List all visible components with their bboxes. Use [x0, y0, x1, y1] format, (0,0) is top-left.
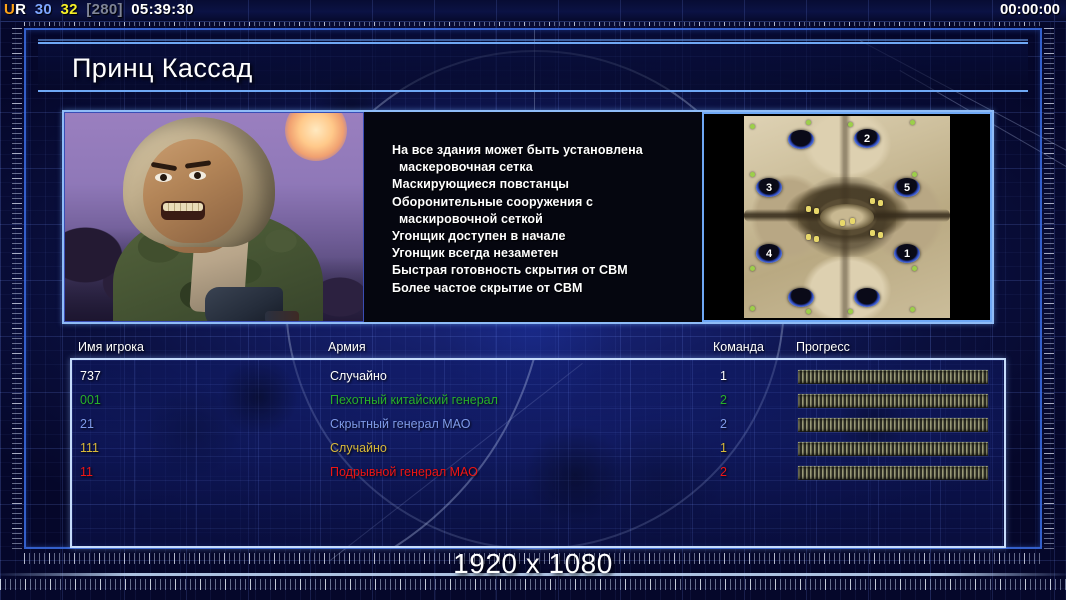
- minimap-oil-marker: [878, 200, 883, 206]
- table-row[interactable]: 11Подрывной генерал МАО2: [80, 462, 1000, 486]
- score-bracket-value: [280]: [86, 1, 123, 18]
- player-list: 737Случайно1001Пехотный китайский генера…: [70, 358, 1006, 548]
- description-line: Маскирующиеся повстанцы: [392, 176, 694, 193]
- faction-description: На все здания может быть установленамаск…: [364, 112, 702, 322]
- ruler-left: [12, 28, 22, 549]
- portrait-weapon: [205, 287, 283, 322]
- description-line: Угонщик доступен в начале: [392, 228, 694, 245]
- resolution-overlay: 1920 x 1080: [0, 548, 1066, 580]
- cell-army: Подрывной генерал МАО: [330, 465, 478, 479]
- header-army: Армия: [328, 340, 366, 354]
- progress-bar: [798, 370, 988, 384]
- minimap-supply-marker: [806, 120, 811, 125]
- progress-bar: [798, 418, 988, 432]
- cell-team: 2: [720, 393, 727, 407]
- minimap-start-position[interactable]: 4: [756, 244, 782, 263]
- session-time: 05:39:30: [131, 1, 193, 18]
- faction-info-panel: На все здания может быть установленамаск…: [62, 110, 994, 324]
- minimap-start-position[interactable]: [788, 130, 814, 149]
- ruler-right: [1044, 28, 1054, 549]
- cell-player-name: 21: [80, 417, 94, 431]
- minimap-start-position[interactable]: 2: [854, 129, 880, 148]
- description-line: Более частое скрытие от СВМ: [392, 280, 694, 297]
- cell-team: 1: [720, 369, 727, 383]
- cell-player-name: 11: [80, 465, 93, 479]
- minimap-supply-marker: [848, 122, 853, 127]
- cell-team: 2: [720, 465, 727, 479]
- score-value-2: 32: [61, 1, 78, 18]
- minimap-supply-marker: [912, 172, 917, 177]
- score-value-1: 30: [35, 1, 52, 18]
- progress-bar: [798, 394, 988, 408]
- minimap-oil-marker: [814, 208, 819, 214]
- portrait-eye-right: [189, 171, 206, 180]
- minimap-start-position[interactable]: [854, 288, 880, 307]
- general-portrait: [64, 112, 364, 322]
- minimap-oil-marker: [806, 234, 811, 240]
- table-row[interactable]: 737Случайно1: [80, 366, 1000, 390]
- description-list: На все здания может быть установленамаск…: [392, 142, 694, 297]
- minimap-oil-marker: [850, 218, 855, 224]
- table-row[interactable]: 111Случайно1: [80, 438, 1000, 462]
- cell-team: 1: [720, 441, 727, 455]
- portrait-eye-left: [155, 173, 172, 182]
- portrait-sun: [285, 112, 347, 161]
- page-title: Принц Кассад: [72, 53, 253, 84]
- minimap-start-position[interactable]: [788, 288, 814, 307]
- header-player-name: Имя игрока: [78, 340, 144, 354]
- minimap-supply-marker: [750, 306, 755, 311]
- minimap-oil-marker: [806, 206, 811, 212]
- cell-player-name: 737: [80, 369, 101, 383]
- portrait-mouth: [161, 201, 205, 220]
- description-line: маскировочной сеткой: [392, 211, 694, 228]
- minimap-supply-marker: [750, 124, 755, 129]
- description-line: На все здания может быть установлена: [392, 142, 694, 159]
- cell-player-name: 001: [80, 393, 101, 407]
- title-bar: Принц Кассад: [38, 42, 1028, 92]
- map-preview: 23541: [702, 112, 992, 322]
- header-progress: Прогресс: [796, 340, 850, 354]
- minimap-supply-marker: [910, 120, 915, 125]
- cell-army: Случайно: [330, 369, 387, 383]
- portrait-keffiyeh: [123, 117, 275, 247]
- minimap-start-position[interactable]: 3: [756, 178, 782, 197]
- minimap-center-feature: [820, 204, 874, 230]
- description-line: Быстрая готовность скрытия от СВМ: [392, 262, 694, 279]
- game-timer: 00:00:00: [1000, 1, 1060, 18]
- screen-root: UR 30 32 [280] 05:39:30 00:00:00 Принц К…: [0, 0, 1066, 600]
- header-team: Команда: [713, 340, 764, 354]
- score-label-u: U: [4, 1, 15, 18]
- minimap-supply-marker: [910, 307, 915, 312]
- description-line: маскеровочная сетка: [392, 159, 694, 176]
- description-line: Угонщик всегда незаметен: [392, 245, 694, 262]
- description-line: Оборонительные сооружения с: [392, 194, 694, 211]
- minimap-supply-marker: [848, 309, 853, 314]
- minimap-terrain: 23541: [744, 116, 950, 318]
- cell-army: Скрытный генерал МАО: [330, 417, 470, 431]
- minimap-oil-marker: [814, 236, 819, 242]
- minimap-supply-marker: [912, 266, 917, 271]
- minimap-supply-marker: [750, 172, 755, 177]
- unit-resource-score: UR 30 32 [280] 05:39:30: [4, 1, 198, 18]
- cell-army: Пехотный китайский генерал: [330, 393, 498, 407]
- minimap-oil-marker: [870, 198, 875, 204]
- minimap-supply-marker: [806, 309, 811, 314]
- score-label-r: R: [15, 1, 26, 18]
- top-status-bar: UR 30 32 [280] 05:39:30 00:00:00: [0, 0, 1066, 22]
- minimap-oil-marker: [878, 232, 883, 238]
- minimap-start-position[interactable]: 5: [894, 178, 920, 197]
- minimap-supply-marker: [750, 266, 755, 271]
- player-table-header: Имя игрока Армия Команда Прогресс: [78, 340, 998, 358]
- progress-bar: [798, 466, 988, 480]
- table-row[interactable]: 001Пехотный китайский генерал2: [80, 390, 1000, 414]
- cell-team: 2: [720, 417, 727, 431]
- minimap-oil-marker: [840, 220, 845, 226]
- cell-player-name: 111: [80, 441, 99, 455]
- table-row[interactable]: 21Скрытный генерал МАО2: [80, 414, 1000, 438]
- progress-bar: [798, 442, 988, 456]
- minimap-start-position[interactable]: 1: [894, 244, 920, 263]
- bottom-ruler: [0, 579, 1066, 590]
- minimap-oil-marker: [870, 230, 875, 236]
- cell-army: Случайно: [330, 441, 387, 455]
